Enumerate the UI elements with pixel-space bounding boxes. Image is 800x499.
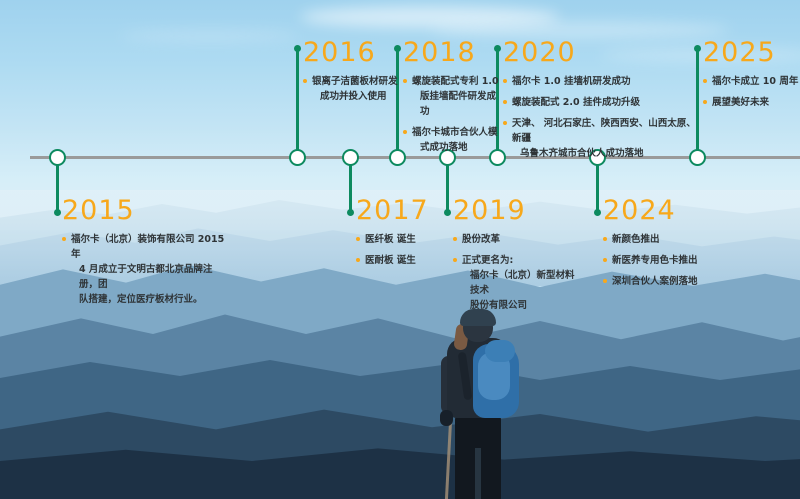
timeline-stem-dot-2024 bbox=[594, 209, 601, 216]
timeline-bullet: 深圳合伙人案例落地 bbox=[603, 274, 728, 289]
hiker-hand bbox=[440, 410, 453, 426]
timeline-bullet: 螺旋装配式 2.0 挂件成功升级 bbox=[503, 95, 703, 110]
hiker-figure bbox=[425, 312, 545, 499]
bullet-line: 队搭建，定位医疗板材行业。 bbox=[71, 292, 227, 307]
timeline-stem-2016 bbox=[296, 48, 299, 156]
bullet-line: 天津、 河北石家庄、陕西西安、山西太原、新疆 bbox=[512, 118, 696, 144]
bullet-line: 4 月成立于文明古都北京品牌注册，团 bbox=[71, 262, 227, 292]
timeline-block-2019: 2019 股份改革 正式更名为: 福尔卡（北京）新型材料技术 股份有限公司 bbox=[453, 196, 583, 313]
timeline-block-2015: 2015 福尔卡（北京）装饰有限公司 2015 年 4 月成立于文明古都北京品牌… bbox=[62, 196, 227, 307]
timeline-infographic: 2015 福尔卡（北京）装饰有限公司 2015 年 4 月成立于文明古都北京品牌… bbox=[0, 0, 800, 499]
timeline-block-2025: 2025 福尔卡成立 10 周年 展望美好未来 bbox=[703, 38, 800, 110]
timeline-year-2017: 2017 bbox=[356, 196, 440, 226]
timeline-bullet: 福尔卡（北京）装饰有限公司 2015 年 4 月成立于文明古都北京品牌注册，团 … bbox=[62, 232, 227, 307]
timeline-block-2018: 2018 螺旋装配式专利 1.0 版挂墙配件研发成功 福尔卡城市合伙人模 式成功… bbox=[403, 38, 503, 155]
timeline-stem-dot-2016 bbox=[294, 45, 301, 52]
timeline-bullet: 福尔卡城市合伙人模 式成功落地 bbox=[403, 125, 503, 155]
timeline-year-2025: 2025 bbox=[703, 38, 800, 68]
timeline-year-2024: 2024 bbox=[603, 196, 728, 226]
bullet-line: 展望美好未来 bbox=[712, 97, 769, 108]
timeline-bullet: 医耐板 诞生 bbox=[356, 253, 440, 268]
cloud-decoration bbox=[430, 22, 730, 38]
bullet-line: 福尔卡（北京）装饰有限公司 2015 年 bbox=[71, 234, 224, 260]
timeline-block-2024: 2024 新颜色推出 新医养专用色卡推出 深圳合伙人案例落地 bbox=[603, 196, 728, 289]
timeline-bullet: 股份改革 bbox=[453, 232, 583, 247]
timeline-bullet: 天津、 河北石家庄、陕西西安、山西太原、新疆 乌鲁木齐城市合伙人成功落地 bbox=[503, 116, 703, 161]
hiker-leg-gap bbox=[475, 448, 481, 499]
bullet-line: 银离子洁菌板材研发 bbox=[312, 76, 398, 87]
timeline-block-2017: 2017 医纤板 诞生 医耐板 诞生 bbox=[356, 196, 440, 268]
bullet-line: 股份改革 bbox=[462, 234, 500, 245]
bullet-line: 医纤板 诞生 bbox=[365, 234, 416, 245]
timeline-stem-2017 bbox=[349, 162, 352, 212]
timeline-year-2019: 2019 bbox=[453, 196, 583, 226]
bullet-line: 新医养专用色卡推出 bbox=[612, 255, 698, 266]
trekking-pole bbox=[445, 418, 452, 499]
timeline-stem-dot-2015 bbox=[54, 209, 61, 216]
timeline-year-2016: 2016 bbox=[303, 38, 399, 68]
timeline-stem-2019 bbox=[446, 162, 449, 212]
timeline-bullet: 银离子洁菌板材研发 成功并投入使用 bbox=[303, 74, 399, 104]
timeline-stem-2015 bbox=[56, 162, 59, 212]
bullet-line: 福尔卡 1.0 挂墙机研发成功 bbox=[512, 76, 630, 87]
timeline-block-2020: 2020 福尔卡 1.0 挂墙机研发成功 螺旋装配式 2.0 挂件成功升级 天津… bbox=[503, 38, 703, 161]
bullet-line: 乌鲁木齐城市合伙人成功落地 bbox=[512, 146, 703, 161]
timeline-year-2018: 2018 bbox=[403, 38, 503, 68]
bullet-line: 式成功落地 bbox=[412, 140, 503, 155]
timeline-stem-2024 bbox=[596, 162, 599, 212]
timeline-bullet: 福尔卡成立 10 周年 bbox=[703, 74, 800, 89]
timeline-year-2015: 2015 bbox=[62, 196, 227, 226]
bullet-line: 福尔卡成立 10 周年 bbox=[712, 76, 798, 87]
timeline-bullet: 医纤板 诞生 bbox=[356, 232, 440, 247]
bullet-line: 股份有限公司 bbox=[462, 298, 583, 313]
timeline-node-2015[interactable] bbox=[49, 149, 66, 166]
bullet-line: 福尔卡（北京）新型材料技术 bbox=[462, 268, 583, 298]
bullet-line: 深圳合伙人案例落地 bbox=[612, 276, 698, 287]
bullet-line: 医耐板 诞生 bbox=[365, 255, 416, 266]
timeline-bullet: 福尔卡 1.0 挂墙机研发成功 bbox=[503, 74, 703, 89]
timeline-bullet: 展望美好未来 bbox=[703, 95, 800, 110]
bullet-line: 成功并投入使用 bbox=[312, 89, 399, 104]
timeline-year-2020: 2020 bbox=[503, 38, 703, 68]
bullet-line: 螺旋装配式专利 1.0 bbox=[412, 76, 499, 87]
backpack-top bbox=[485, 340, 515, 362]
cloud-decoration bbox=[120, 30, 300, 42]
bullet-line: 版挂墙配件研发成功 bbox=[412, 89, 503, 119]
timeline-bullet: 正式更名为: 福尔卡（北京）新型材料技术 股份有限公司 bbox=[453, 253, 583, 313]
bullet-line: 正式更名为: bbox=[462, 255, 513, 266]
timeline-node-2017[interactable] bbox=[342, 149, 359, 166]
timeline-block-2016: 2016 银离子洁菌板材研发 成功并投入使用 bbox=[303, 38, 399, 104]
timeline-bullet: 新医养专用色卡推出 bbox=[603, 253, 728, 268]
timeline-bullet: 螺旋装配式专利 1.0 版挂墙配件研发成功 bbox=[403, 74, 503, 119]
bullet-line: 福尔卡城市合伙人模 bbox=[412, 127, 498, 138]
timeline-stem-dot-2019 bbox=[444, 209, 451, 216]
bullet-line: 螺旋装配式 2.0 挂件成功升级 bbox=[512, 97, 640, 108]
timeline-node-2016[interactable] bbox=[289, 149, 306, 166]
bullet-line: 新颜色推出 bbox=[612, 234, 660, 245]
timeline-bullet: 新颜色推出 bbox=[603, 232, 728, 247]
timeline-stem-dot-2017 bbox=[347, 209, 354, 216]
